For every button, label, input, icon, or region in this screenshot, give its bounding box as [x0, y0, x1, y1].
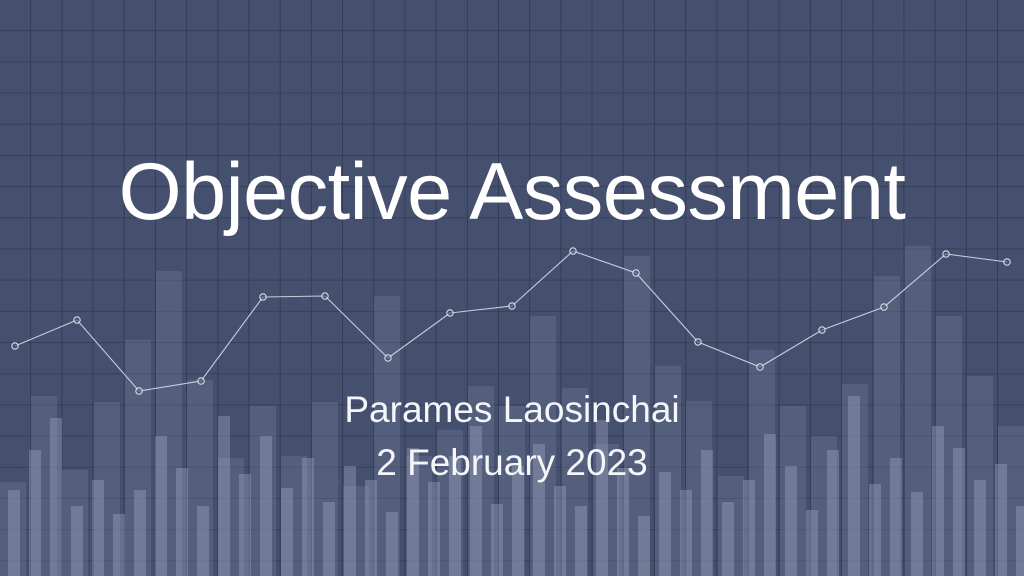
author-name: Parames Laosinchai — [0, 384, 1024, 437]
title-slide: Objective Assessment Parames Laosinchai … — [0, 0, 1024, 576]
slide-text: Objective Assessment Parames Laosinchai … — [0, 0, 1024, 576]
presentation-date: 2 February 2023 — [0, 437, 1024, 490]
page-title: Objective Assessment — [0, 152, 1024, 233]
slide-subtitle: Parames Laosinchai 2 February 2023 — [0, 384, 1024, 489]
